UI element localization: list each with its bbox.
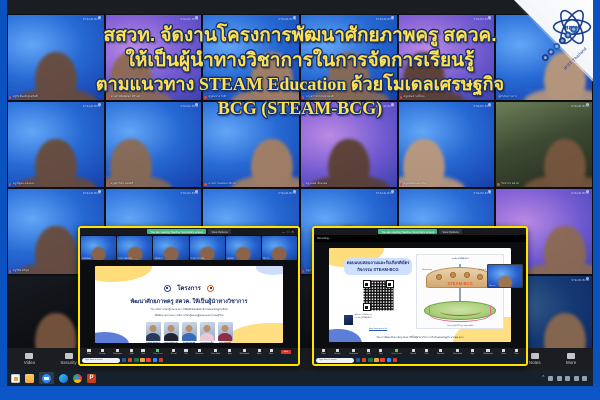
inset-toolbar-q-a[interactable]: Q&A bbox=[367, 349, 371, 354]
zoom-window-titlebar bbox=[7, 0, 593, 14]
speaker-photo bbox=[164, 322, 179, 341]
inset-toolbar-security[interactable]: Security bbox=[99, 349, 105, 354]
participant-name: ครูวิชัย ศรีสุข bbox=[10, 269, 29, 273]
virtual-background-watermark: STEAM-BCG bbox=[474, 192, 492, 195]
powerpoint-icon[interactable] bbox=[128, 358, 133, 363]
qr-header: ตอบแบบสอบถามและรับเกียรติบัตร กิจกรรม ST… bbox=[344, 258, 413, 275]
participant-tile[interactable]: STEAM-BCGครูสมชาย ใจดี bbox=[203, 15, 299, 100]
participant-tile[interactable]: STEAM-BCGวิทยากร สสวท. bbox=[496, 102, 592, 187]
participant-face bbox=[109, 139, 151, 187]
chrome-icon[interactable] bbox=[146, 358, 151, 363]
powerpoint-icon[interactable] bbox=[362, 358, 367, 363]
zoom-toolbar-label: Video bbox=[24, 360, 35, 365]
participant-name: ครูสมชาย bbox=[154, 257, 162, 260]
battery-icon[interactable] bbox=[557, 376, 562, 381]
volume-icon[interactable] bbox=[574, 376, 579, 381]
word-icon[interactable] bbox=[122, 358, 127, 363]
participant-face bbox=[236, 247, 251, 260]
inset-right-titlebar: You are viewing Teacher Somchai's screen… bbox=[314, 228, 526, 235]
microsoft-store-icon[interactable] bbox=[11, 374, 20, 383]
participant-name: นางสาววราภรณ์ ทองดี bbox=[303, 95, 333, 99]
inset-toolbar-label: Share Screen bbox=[391, 353, 401, 355]
slide-footnote: โครงการพัฒนาศักยภาพครู สควค. ให้เป็นผู้น… bbox=[329, 335, 511, 339]
participant-face bbox=[544, 139, 586, 187]
inset-toolbar-participants[interactable]: Participants bbox=[349, 349, 358, 354]
speaker-name: ผศ.ดร.ธีรพงษ์ แสงประดิษฐ์ bbox=[164, 342, 179, 343]
inset-left-titlebar: You are viewing Teacher Somchai's screen… bbox=[80, 228, 298, 235]
network-icon[interactable] bbox=[565, 376, 570, 381]
inset-participant-tile[interactable]: วิทยากร bbox=[262, 236, 297, 260]
participant-tile[interactable]: STEAM-BCGนางสาวกมลชนก ดีงาม bbox=[203, 102, 299, 187]
participant-face bbox=[272, 247, 287, 260]
zoom-app-icon[interactable] bbox=[42, 374, 51, 383]
qr-finder-bottom-left bbox=[363, 303, 371, 311]
inset-toolbar-label: Raise Hand bbox=[453, 353, 462, 355]
speaker-head bbox=[168, 325, 175, 332]
virtual-background-watermark: STEAM-BCG bbox=[571, 192, 589, 195]
speaker-body bbox=[164, 333, 178, 341]
inset-toolbar-label: Chat bbox=[379, 353, 383, 355]
inset-toolbar-reactions[interactable]: Reactions bbox=[196, 349, 204, 354]
inset-toolbar-video[interactable]: Video bbox=[87, 349, 91, 354]
speaker-photo bbox=[200, 322, 215, 341]
qr-header-line-2: กิจกรรม STEAM-BCG bbox=[357, 267, 398, 272]
participant-face bbox=[109, 52, 151, 100]
slide-speaker: ดร.จิราวรรณ ศรีประเสริฐ bbox=[218, 322, 233, 343]
participant-name: ครูอนันต์ bbox=[227, 257, 234, 260]
participant-tile[interactable]: STEAM-BCGครูกิตติพงศ์ สุขสวัสดิ์ bbox=[8, 15, 104, 100]
inset-left-participant-strip: ครูกิตติพงศ์นางสาวพิมพ์ชนกครูสมชายนางสาว… bbox=[80, 235, 298, 261]
inset-toolbar-polls[interactable]: Polls bbox=[425, 349, 429, 354]
virtual-background-watermark: STEAM-BCG bbox=[278, 105, 296, 108]
inset-participant-tile[interactable]: ครูสมชาย bbox=[153, 236, 188, 260]
camera-icon bbox=[25, 353, 33, 359]
inset-toolbar-chat[interactable]: Chat bbox=[141, 349, 145, 354]
inset-toolbar-video[interactable]: Video bbox=[321, 349, 325, 354]
view-options-button[interactable]: View Options bbox=[208, 229, 230, 234]
slide-speaker: ดร.พรชัย อินทร์ฉาย bbox=[146, 322, 161, 343]
self-view-face bbox=[498, 276, 512, 288]
speaker-head bbox=[222, 325, 229, 332]
inset-toolbar-raise-hand[interactable]: Raise Hand bbox=[453, 349, 462, 354]
qr-column: ตอบแบบสอบถามและรับเกียรติบัตร กิจกรรม ST… bbox=[342, 258, 415, 330]
participant-face bbox=[91, 247, 106, 260]
inset-toolbar-security[interactable]: Security bbox=[334, 349, 340, 354]
participant-name: นางสาวพิมพ์ชนก bbox=[118, 257, 132, 260]
excel-icon[interactable] bbox=[134, 358, 139, 363]
zoom-toolbar-label: Notes bbox=[529, 360, 541, 365]
participant-face bbox=[402, 52, 444, 100]
speaker-photo bbox=[182, 322, 197, 341]
zoom-taskbar-item[interactable] bbox=[39, 372, 54, 384]
participant-face bbox=[251, 139, 293, 187]
presentation-slide-title: โครงการ พัฒนาศักยภาพครู สควค. ให้เป็นผู้… bbox=[95, 266, 282, 343]
virtual-background-watermark: STEAM-BCG bbox=[83, 105, 101, 108]
virtual-background-watermark: STEAM-BCG bbox=[376, 192, 394, 195]
speaker-body bbox=[218, 333, 232, 341]
screen-share-banner: You are viewing Teacher Somchai's screen bbox=[147, 229, 206, 234]
virtual-background-watermark: STEAM-BCG bbox=[474, 105, 492, 108]
qr-finder-top-left bbox=[363, 280, 371, 288]
diagram-left-label: Bioeconomy bbox=[423, 269, 432, 271]
inset-toolbar-label: Reactions bbox=[437, 353, 445, 355]
virtual-background-watermark: STEAM-BCG bbox=[571, 279, 589, 282]
inset-toolbar-label: Q&A bbox=[130, 353, 134, 355]
participant-name: ครูกิตติพงศ์ bbox=[82, 257, 91, 260]
inset-participant-tile[interactable]: ครูอนันต์ bbox=[226, 236, 261, 260]
speaker-name: ดร.สุนทร พลเสน bbox=[182, 342, 197, 343]
frame-border-right bbox=[593, 0, 600, 400]
inset-toolbar-label: Reactions bbox=[196, 353, 204, 355]
participant-name: ครูสุดารัตน์ พงษ์ศรี bbox=[108, 182, 134, 186]
inset-toolbar-more[interactable]: More bbox=[515, 349, 519, 354]
inset-toolbar-share-screen[interactable]: Share Screen bbox=[391, 349, 401, 354]
participant-name: นางสาวพิมพ์ชนก ศรีวงศ์ bbox=[108, 95, 140, 99]
diagram-title: แนวคิด STEAM-BCG bbox=[452, 257, 469, 260]
zoom-toolbar-label: Security bbox=[60, 360, 76, 365]
inset-toolbar-label: Share Screen bbox=[153, 353, 163, 355]
participant-name: วิทยากร bbox=[263, 257, 270, 260]
google-chrome-icon[interactable] bbox=[73, 374, 82, 383]
slide-title-line-2: พัฒนาศักยภาพครู สควค. ให้เป็นผู้นำทางวิช… bbox=[95, 298, 282, 306]
zoom-toolbar-notes[interactable]: Notes bbox=[529, 353, 541, 365]
inset-toolbar-label: Apps bbox=[228, 353, 232, 355]
inset-toolbar-apps[interactable]: Apps bbox=[471, 349, 475, 354]
page-curl-corner: สสวท IPST Thailand bbox=[514, 0, 600, 86]
speaker-name: ดร.กมลวรรณ ชื่นชาติ bbox=[200, 342, 215, 343]
windows-search-box[interactable]: Type here to search bbox=[316, 358, 354, 363]
end-meeting-button[interactable]: End bbox=[281, 350, 291, 354]
shield-icon bbox=[65, 353, 73, 359]
speaker-head bbox=[186, 325, 193, 332]
speaker-name: ดร.จิราวรรณ ศรีประเสริฐ bbox=[218, 342, 233, 343]
inset-toolbar-whiteboards[interactable]: Whiteboards bbox=[483, 349, 492, 354]
zoom-icon[interactable] bbox=[387, 358, 392, 363]
slide-speaker: ดร.สุนทร พลเสน bbox=[182, 322, 197, 343]
participant-name: นางสาววราภรณ์ bbox=[191, 257, 205, 260]
self-view-name: วิทยากร bbox=[489, 284, 495, 287]
inset-toolbar-apps[interactable]: Apps bbox=[228, 349, 232, 354]
inset-left-shared-screen: โครงการ พัฒนาศักยภาพครู สควค. ให้เป็นผู้… bbox=[80, 261, 298, 348]
notes-icon bbox=[531, 353, 539, 359]
inset-toolbar-notes[interactable]: Notes bbox=[502, 349, 506, 354]
inset-toolbar-label: Participants bbox=[113, 353, 122, 355]
slide-header: โครงการ พัฒนาศักยภาพครู สควค. ให้เป็นผู้… bbox=[95, 279, 282, 318]
inset-toolbar-label: More bbox=[515, 353, 519, 355]
show-hidden-icons-chevron[interactable]: ^ bbox=[542, 375, 544, 381]
inset-toolbar-label: Apps bbox=[471, 353, 475, 355]
book-cover-thumbnail bbox=[344, 315, 353, 325]
microphone-icon[interactable] bbox=[548, 376, 553, 381]
microsoft-edge-icon[interactable] bbox=[59, 374, 68, 383]
participant-name: ครูธนพล ชัยมงคล bbox=[303, 182, 327, 186]
qr-code[interactable] bbox=[362, 279, 395, 312]
inset-toolbar-share-screen[interactable]: Share Screen bbox=[153, 349, 163, 354]
inset-toolbar-chat[interactable]: Chat bbox=[379, 349, 383, 354]
qr-header-line-1: ตอบแบบสอบถามและรับเกียรติบัตร bbox=[347, 260, 410, 265]
virtual-background-watermark: STEAM-BCG bbox=[278, 18, 296, 21]
windows-taskbar[interactable]: P ^ bbox=[7, 370, 593, 386]
virtual-background-watermark: STEAM-BCG bbox=[83, 192, 101, 195]
participant-tile[interactable]: STEAM-BCGนางสาววราภรณ์ ทองดี bbox=[301, 15, 397, 100]
screen-share-banner: You are viewing Teacher Somchai's screen bbox=[378, 229, 437, 234]
resource-url[interactable]: https://www.ipst.ac.th/ bbox=[342, 328, 415, 330]
speaker-head bbox=[204, 325, 211, 332]
participant-tile[interactable]: STEAM-BCGครูธนพล ชัยมงคล bbox=[301, 102, 397, 187]
slide-subtitle-line-2: เพื่อพัฒนาสมรรถนะการจัดการเรียนรู้ของครู… bbox=[95, 315, 282, 318]
folder-icon[interactable] bbox=[140, 358, 145, 363]
file-explorer-icon[interactable] bbox=[25, 374, 34, 383]
self-view-thumbnail[interactable]: วิทยากร bbox=[487, 264, 523, 288]
participant-face bbox=[35, 52, 77, 100]
participant-name: ครูสมชาย ใจดี bbox=[205, 95, 225, 99]
inset-toolbar-label: Whiteboards bbox=[240, 353, 249, 355]
powerpoint-icon[interactable]: P bbox=[87, 374, 96, 383]
inset-toolbar-label: Participants bbox=[349, 353, 358, 355]
virtual-background-watermark: STEAM-BCG bbox=[181, 18, 199, 21]
diagram-center-label: STEAM-BCG bbox=[447, 281, 472, 286]
inset-toolbar-participants[interactable]: Participants bbox=[113, 349, 122, 354]
system-tray[interactable]: ^ bbox=[542, 375, 593, 381]
participant-tile[interactable]: STEAM-BCGครูพรทิพย์ สุขเจริญ bbox=[399, 102, 495, 187]
participant-name: ครูอนันต์ วงศ์ไทย bbox=[401, 95, 425, 99]
inset-toolbar-record[interactable]: Record bbox=[171, 349, 176, 354]
diagram-pink-arc bbox=[429, 306, 491, 322]
inset-toolbar-label: More bbox=[269, 353, 273, 355]
inset-toolbar-q-a[interactable]: Q&A bbox=[130, 349, 134, 354]
decorative-shape-top-right bbox=[256, 266, 282, 275]
inset-toolbar-label: Security bbox=[99, 353, 105, 355]
speaker-name: ดร.พรชัย อินทร์ฉาย bbox=[146, 342, 161, 343]
sckc-emblem-icon bbox=[207, 285, 214, 292]
inset-toolbar-label: Security bbox=[334, 353, 340, 355]
participant-face bbox=[35, 226, 77, 274]
announcement-graphic: STEAM-BCGครูกิตติพงศ์ สุขสวัสดิ์STEAM-BC… bbox=[0, 0, 600, 400]
inset-toolbar-label: Raise Hand bbox=[211, 353, 220, 355]
participant-tile[interactable]: STEAM-BCGนางสาวพิมพ์ชนก ศรีวงศ์ bbox=[106, 15, 202, 100]
participant-name: วิทยากร สสวท. bbox=[498, 182, 519, 186]
book-reference: คู่มือ แนว การจัดกิจกรรม การเรียนรู้ STE… bbox=[342, 315, 415, 325]
book-caption-line-2: การเรียนรู้ STEAM-BCG bbox=[355, 318, 372, 319]
participant-face bbox=[402, 139, 444, 187]
speaker-body bbox=[200, 333, 214, 341]
participant-face bbox=[328, 139, 370, 187]
participant-face bbox=[328, 52, 370, 100]
frame-border-left bbox=[0, 0, 7, 400]
inset-right-taskbar[interactable]: Type here to search bbox=[314, 356, 526, 364]
speaker-body bbox=[146, 333, 160, 341]
inset-toolbar-label: Chat bbox=[141, 353, 145, 355]
zoom-toolbar-label: More bbox=[566, 360, 576, 365]
inset-toolbar-label: Record bbox=[410, 353, 415, 355]
inset-toolbar-label: Notes bbox=[502, 353, 506, 355]
frame-border-bottom bbox=[0, 387, 600, 400]
inset-toolbar-polls[interactable]: Polls bbox=[184, 349, 188, 354]
participant-face bbox=[544, 226, 586, 274]
virtual-background-watermark: STEAM-BCG bbox=[474, 18, 492, 21]
participant-face bbox=[251, 52, 293, 100]
participant-name: ผู้ดำเนินรายการ bbox=[498, 95, 517, 99]
inset-toolbar-label: Whiteboards bbox=[483, 353, 492, 355]
virtual-background-watermark: STEAM-BCG bbox=[376, 18, 394, 21]
participant-name: ครูกิตติพงศ์ สุขสวัสดิ์ bbox=[10, 95, 38, 99]
virtual-background-watermark: STEAM-BCG bbox=[181, 105, 199, 108]
ellipsis-icon bbox=[567, 353, 575, 359]
participant-tile[interactable]: STEAM-BCGครูอนันต์ วงศ์ไทย bbox=[399, 15, 495, 100]
inset-screenshot-right[interactable]: You are viewing Teacher Somchai's screen… bbox=[312, 226, 528, 366]
zoom-icon[interactable] bbox=[153, 358, 158, 363]
inset-toolbar-raise-hand[interactable]: Raise Hand bbox=[211, 349, 220, 354]
excel-icon[interactable] bbox=[368, 358, 373, 363]
inset-right-shared-screen: ตอบแบบสอบถามและรับเกียรติบัตร กิจกรรม ST… bbox=[314, 242, 526, 348]
inset-participant-tile[interactable]: ครูกิตติพงศ์ bbox=[81, 236, 116, 260]
slide-subtitle-line-1: ในการจัดการเรียนรู้ตามแนวทาง STEAM Educa… bbox=[95, 309, 282, 312]
word-icon[interactable] bbox=[356, 358, 361, 363]
zoom-toolbar-video[interactable]: Video bbox=[24, 353, 35, 365]
participant-name: ครูพรทิพย์ สุขเจริญ bbox=[401, 182, 427, 186]
zoom-toolbar-more[interactable]: More bbox=[566, 353, 576, 365]
inset-toolbar-label: Video bbox=[87, 353, 91, 355]
inset-toolbar-label: Polls bbox=[425, 353, 429, 355]
inset-toolbar-whiteboards[interactable]: Whiteboards bbox=[240, 349, 249, 354]
language-icon[interactable] bbox=[582, 376, 587, 381]
diagram-caption: โมเดลเศรษฐกิจ BCG สู่การพัฒนาที่ยั่งยืน bbox=[447, 324, 473, 327]
book-caption-line-1: คู่มือ แนว การจัดกิจกรรม bbox=[355, 315, 372, 316]
speaker-head bbox=[150, 325, 157, 332]
book-caption: คู่มือ แนว การจัดกิจกรรม การเรียนรู้ STE… bbox=[355, 315, 372, 320]
participant-face bbox=[164, 247, 179, 260]
windows-search-box[interactable]: Type here to search bbox=[82, 358, 120, 363]
virtual-background-watermark: STEAM-BCG bbox=[83, 18, 101, 21]
presentation-slide-resources: ตอบแบบสอบถามและรับเกียรติบัตร กิจกรรม ST… bbox=[329, 248, 511, 341]
pdf-icon[interactable] bbox=[159, 358, 164, 363]
inset-screenshot-left[interactable]: You are viewing Teacher Somchai's screen… bbox=[78, 226, 300, 366]
qr-finder-top-right bbox=[386, 280, 394, 288]
canopy-node-3 bbox=[464, 272, 470, 278]
virtual-background-watermark: STEAM-BCG bbox=[278, 192, 296, 195]
inset-participant-tile[interactable]: นางสาวพิมพ์ชนก bbox=[117, 236, 152, 260]
inset-toolbar-reactions[interactable]: Reactions bbox=[437, 349, 445, 354]
virtual-background-watermark: STEAM-BCG bbox=[181, 192, 199, 195]
slide-speaker: ผศ.ดร.ธีรพงษ์ แสงประดิษฐ์ bbox=[164, 322, 179, 343]
slide-title-line-1: โครงการ bbox=[177, 283, 201, 293]
participant-name: นางสาวกมลชนก ดีงาม bbox=[205, 182, 236, 186]
inset-toolbar-more[interactable]: More bbox=[269, 349, 273, 354]
window-controls[interactable]: —□✕ bbox=[282, 230, 296, 234]
participant-face bbox=[35, 139, 77, 187]
view-options-button[interactable]: View Options bbox=[439, 229, 461, 234]
chrome-icon[interactable] bbox=[380, 358, 385, 363]
inset-participant-tile[interactable]: นางสาววราภรณ์ bbox=[190, 236, 225, 260]
speaker-photo bbox=[146, 322, 161, 341]
participant-name: ครูณัฐพล แสงทอง bbox=[10, 182, 34, 186]
inset-toolbar-label: Record bbox=[171, 353, 176, 355]
inset-left-taskbar[interactable]: Type here to search bbox=[80, 356, 298, 364]
inset-toolbar-label: Polls bbox=[184, 353, 188, 355]
pdf-icon[interactable] bbox=[393, 358, 398, 363]
folder-icon[interactable] bbox=[374, 358, 379, 363]
inset-right-zoom-toolbar[interactable]: VideoSecurityParticipantsQ&AChatShare Sc… bbox=[314, 348, 526, 356]
recording-indicator: Recording... bbox=[317, 237, 331, 240]
inset-toolbar-record[interactable]: Record bbox=[410, 349, 415, 354]
zoom-toolbar-security[interactable]: Security bbox=[60, 353, 76, 365]
ipst-emblem-icon bbox=[164, 285, 171, 292]
slide-speaker: ดร.กมลวรรณ ชื่นชาติ bbox=[200, 322, 215, 343]
canopy-node-1 bbox=[436, 274, 442, 280]
participant-tile[interactable]: STEAM-BCGครูสุดารัตน์ พงษ์ศรี bbox=[106, 102, 202, 187]
speaker-body bbox=[182, 333, 196, 341]
participant-tile[interactable]: STEAM-BCGครูณัฐพล แสงทอง bbox=[8, 102, 104, 187]
inset-toolbar-label: Video bbox=[321, 353, 325, 355]
slide-speaker-row: ดร.พรชัย อินทร์ฉายผศ.ดร.ธีรพงษ์ แสงประดิ… bbox=[95, 322, 282, 343]
inset-toolbar-label: Notes bbox=[257, 353, 261, 355]
virtual-background-watermark: STEAM-BCG bbox=[376, 105, 394, 108]
speaker-photo bbox=[218, 322, 233, 341]
inset-toolbar-notes[interactable]: Notes bbox=[257, 349, 261, 354]
inset-toolbar-label: Q&A bbox=[367, 353, 371, 355]
virtual-background-watermark: STEAM-BCG bbox=[571, 105, 589, 108]
inset-left-zoom-toolbar[interactable]: VideoSecurityParticipantsQ&AChatShare Sc… bbox=[80, 348, 298, 356]
